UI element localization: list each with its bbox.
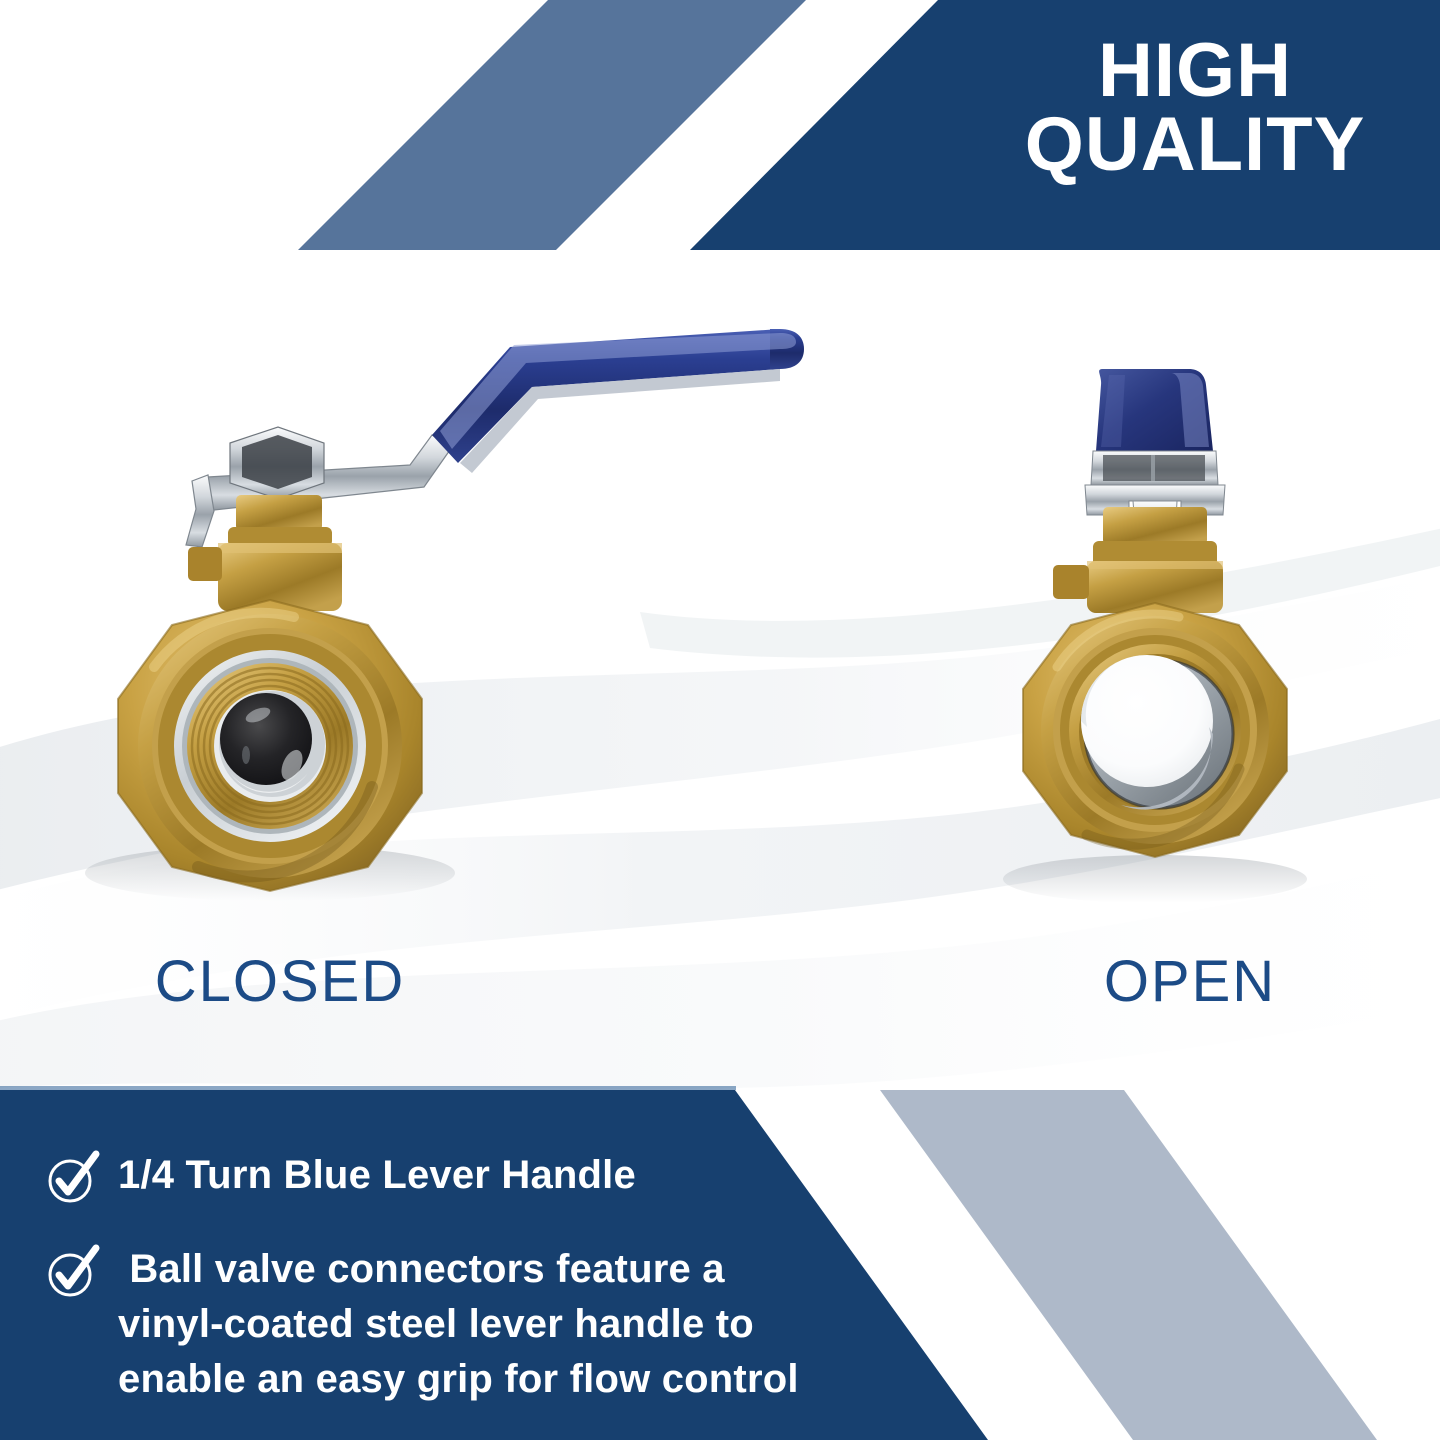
- feature-list: 1/4 Turn Blue Lever Handle Ball valve co…: [44, 1148, 804, 1408]
- list-item: Ball valve connectors feature a vinyl-co…: [44, 1242, 804, 1408]
- valve-body-closed: [118, 600, 422, 891]
- valve-closed-illustration: [80, 295, 980, 915]
- product-marketing-image: HIGH QUALITY: [0, 0, 1440, 1440]
- page-title-line-2: QUALITY: [975, 108, 1415, 182]
- feature-text: 1/4 Turn Blue Lever Handle: [118, 1148, 636, 1203]
- bottom-light-stripe: [880, 1090, 1377, 1440]
- circled-check-icon: [44, 1244, 100, 1300]
- valve-body-open: [1023, 603, 1287, 857]
- caption-open: OPEN: [1020, 948, 1360, 1015]
- valve-shadow: [1003, 855, 1307, 903]
- valve-open-illustration: [975, 355, 1335, 915]
- caption-closed: CLOSED: [110, 948, 450, 1015]
- top-slate-stripe: [298, 0, 806, 250]
- stem-assembly-open: [1053, 507, 1223, 613]
- circled-check-icon: [44, 1150, 100, 1206]
- page-title-line-1: HIGH: [975, 34, 1415, 108]
- list-item: 1/4 Turn Blue Lever Handle: [44, 1148, 804, 1206]
- feature-text: Ball valve connectors feature a vinyl-co…: [118, 1242, 804, 1408]
- page-title: HIGH QUALITY: [975, 34, 1415, 183]
